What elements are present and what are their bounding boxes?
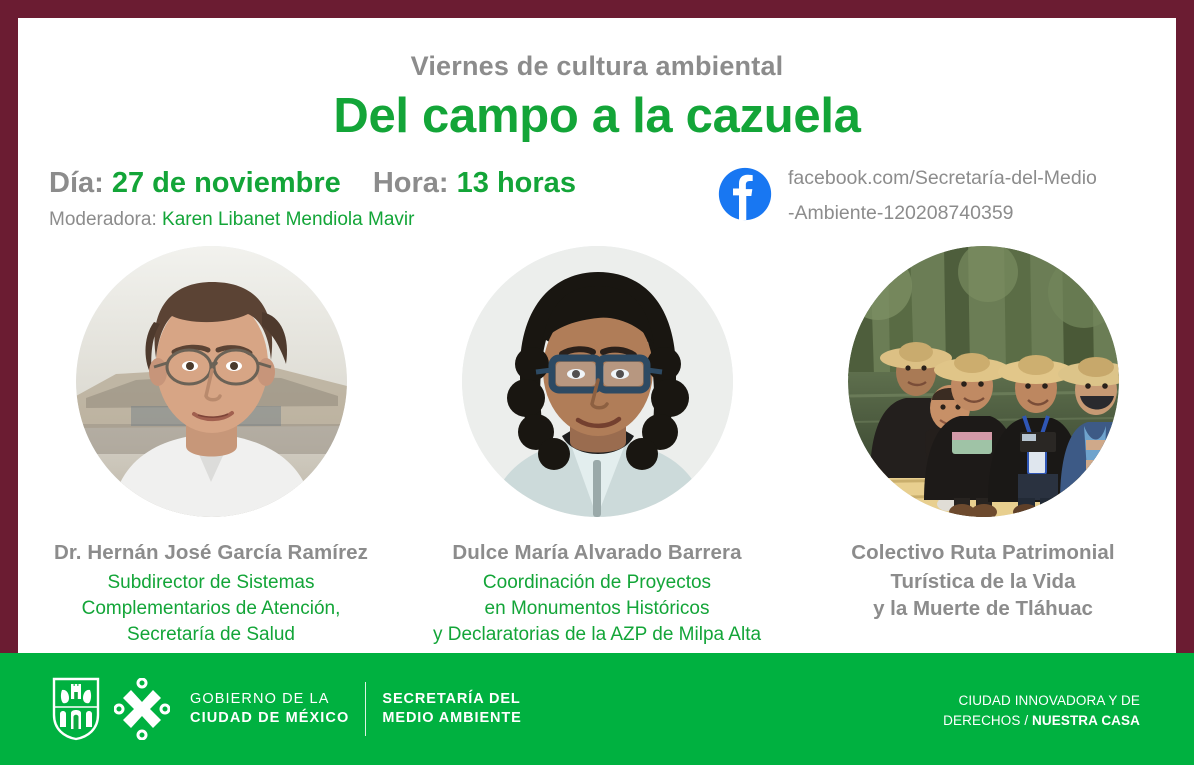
speaker-role: Turística de la Vida y la Muerte de Tláh…: [873, 568, 1093, 623]
speaker-card: Dr. Hernán José García Ramírez Subdirect…: [36, 246, 386, 648]
moderator-label: Moderadora:: [49, 209, 157, 230]
speaker-name: Colectivo Ruta Patrimonial: [851, 539, 1114, 567]
speaker-role-line: y la Muerte de Tláhuac: [873, 597, 1093, 620]
cdmx-coat-of-arms-icon: [52, 677, 100, 741]
speaker-role-line: en Monumentos Históricos: [485, 598, 710, 619]
speaker-name: Dulce María Alvarado Barrera: [452, 539, 741, 567]
secretaria-medio-ambiente-text: SECRETARÍA DEL MEDIO AMBIENTE: [382, 690, 521, 727]
speaker-role-line: y Declaratorias de la AZP de Milpa Alta: [433, 624, 761, 645]
poster-root: Viernes de cultura ambiental Del campo a…: [0, 0, 1194, 765]
speaker-role-line: Turística de la Vida: [891, 570, 1076, 593]
speaker-photo-colectivo: [848, 246, 1119, 517]
moderator-line: Moderadora: Karen Libanet Mendiola Mavir: [49, 209, 414, 231]
footer-text-lockup: GOBIERNO DE LA CIUDAD DE MÉXICO SECRETAR…: [190, 682, 522, 736]
poster-headline: Del campo a la cazuela: [18, 88, 1176, 144]
speaker-role-line: Secretaría de Salud: [127, 624, 295, 645]
secretaria-line-2: MEDIO AMBIENTE: [382, 709, 521, 728]
footer-tagline: CIUDAD INNOVADORA Y DE DERECHOS / NUESTR…: [943, 691, 1140, 730]
poster-kicker: Viernes de cultura ambiental: [18, 51, 1176, 82]
footer-logo-lockup: GOBIERNO DE LA CIUDAD DE MÉXICO SECRETAR…: [52, 677, 522, 741]
speakers-row: Dr. Hernán José García Ramírez Subdirect…: [18, 246, 1176, 648]
tagline-bold: NUESTRA CASA: [1032, 713, 1140, 728]
facebook-url: facebook.com/Secretaría-del-Medio -Ambie…: [788, 161, 1097, 230]
day-label: Día:: [49, 167, 104, 199]
tagline-line-2: DERECHOS / NUESTRA CASA: [943, 711, 1140, 731]
facebook-url-line2: -Ambiente-120208740359: [788, 202, 1014, 224]
event-datetime-line: Día: 27 de noviembre Hora: 13 horas: [49, 167, 576, 200]
speaker-role-line: Subdirector de Sistemas: [107, 572, 314, 593]
facebook-url-line1: facebook.com/Secretaría-del-Medio: [788, 167, 1097, 189]
poster-content-area: Viernes de cultura ambiental Del campo a…: [18, 18, 1176, 653]
speaker-role-line: Coordinación de Proyectos: [483, 572, 711, 593]
gobierno-line-2: CIUDAD DE MÉXICO: [190, 709, 349, 728]
facebook-link[interactable]: facebook.com/Secretaría-del-Medio -Ambie…: [718, 161, 1097, 230]
cdmx-logo-icon: [114, 678, 170, 740]
day-value: 27 de noviembre: [112, 167, 341, 199]
speaker-photo-hernan: [76, 246, 347, 517]
speaker-role: Coordinación de Proyectos en Monumentos …: [433, 570, 761, 648]
gobierno-cdmx-text: GOBIERNO DE LA CIUDAD DE MÉXICO: [190, 690, 349, 727]
speaker-name: Dr. Hernán José García Ramírez: [54, 539, 368, 567]
footer-bar: GOBIERNO DE LA CIUDAD DE MÉXICO SECRETAR…: [0, 653, 1194, 765]
tagline-line-1: CIUDAD INNOVADORA Y DE: [943, 691, 1140, 711]
speaker-role: Subdirector de Sistemas Complementarios …: [82, 570, 341, 648]
speaker-card: Colectivo Ruta Patrimonial Turística de …: [808, 246, 1158, 623]
speaker-photo-dulce: [462, 246, 733, 517]
facebook-icon: [718, 167, 772, 221]
moderator-name: Karen Libanet Mendiola Mavir: [162, 209, 414, 230]
footer-divider: [365, 682, 366, 736]
gobierno-line-1: GOBIERNO DE LA: [190, 690, 349, 709]
time-value: 13 horas: [457, 167, 576, 199]
tagline-normal: DERECHOS /: [943, 713, 1032, 728]
time-label: Hora:: [373, 167, 449, 199]
speaker-card: Dulce María Alvarado Barrera Coordinació…: [422, 246, 772, 648]
speaker-role-line: Complementarios de Atención,: [82, 598, 341, 619]
secretaria-line-1: SECRETARÍA DEL: [382, 690, 521, 709]
